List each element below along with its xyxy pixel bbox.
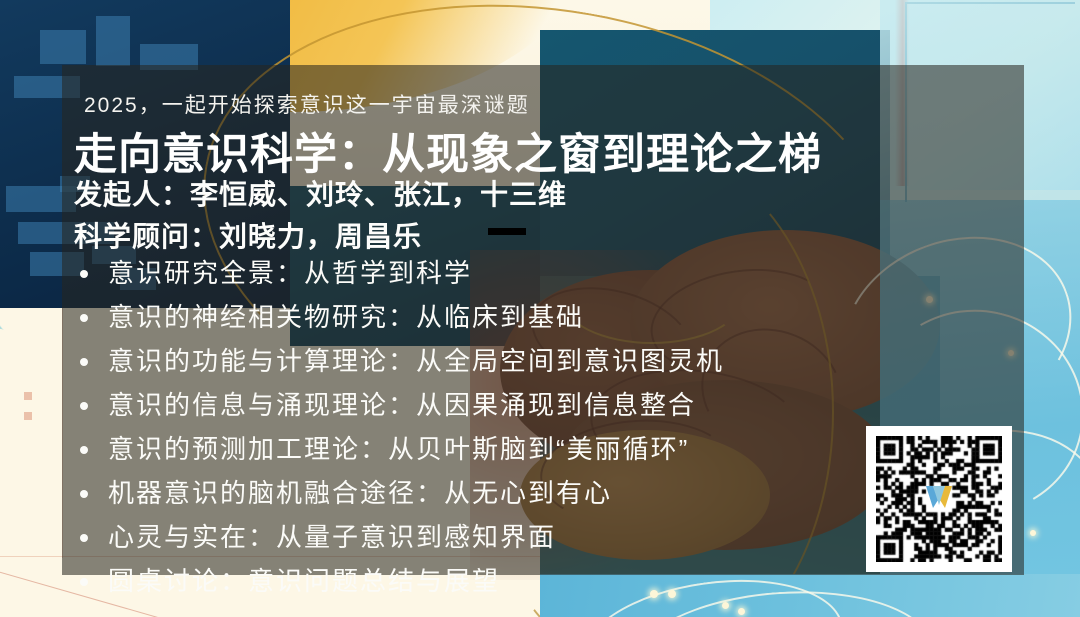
poster-kicker: 2025，一起开始探索意识这一宇宙最深谜题 [84, 89, 530, 119]
agenda-item: 意识的神经相关物研究：从临床到基础 [70, 295, 930, 339]
qr-code[interactable] [866, 426, 1012, 572]
agenda-item: 意识的功能与计算理论：从全局空间到意识图灵机 [70, 339, 930, 383]
agenda-item: 圆桌讨论：意识问题总结与展望 [70, 559, 930, 603]
neural-node [738, 608, 745, 615]
poster-advisor-line: 科学顾问：刘晓力，周昌乐 [74, 215, 422, 255]
poster-canvas: 2025，一起开始探索意识这一宇宙最深谜题 走向意识科学：从现象之窗到理论之梯 … [0, 0, 1080, 617]
agenda-item: 意识研究全景：从哲学到科学 [70, 251, 930, 295]
agenda-item: 意识的预测加工理论：从贝叶斯脑到“美丽循环” [70, 427, 930, 471]
agenda-item: 心灵与实在：从量子意识到感知界面 [70, 515, 930, 559]
agenda-item: 意识的信息与涌现理论：从因果涌现到信息整合 [70, 383, 930, 427]
agenda-item: 机器意识的脑机融合途径：从无心到有心 [70, 471, 930, 515]
neural-node [722, 602, 729, 609]
redaction-bar [488, 228, 526, 235]
poster-presenter-line: 发起人：李恒威、刘玲、张江，十三维 [74, 173, 567, 213]
butterfly-logo-icon [924, 483, 954, 511]
paper-marker-square [24, 392, 32, 400]
paper-marker-square [24, 412, 32, 420]
neural-node [1030, 530, 1036, 536]
agenda-list: 意识研究全景：从哲学到科学 意识的神经相关物研究：从临床到基础 意识的功能与计算… [70, 251, 930, 603]
